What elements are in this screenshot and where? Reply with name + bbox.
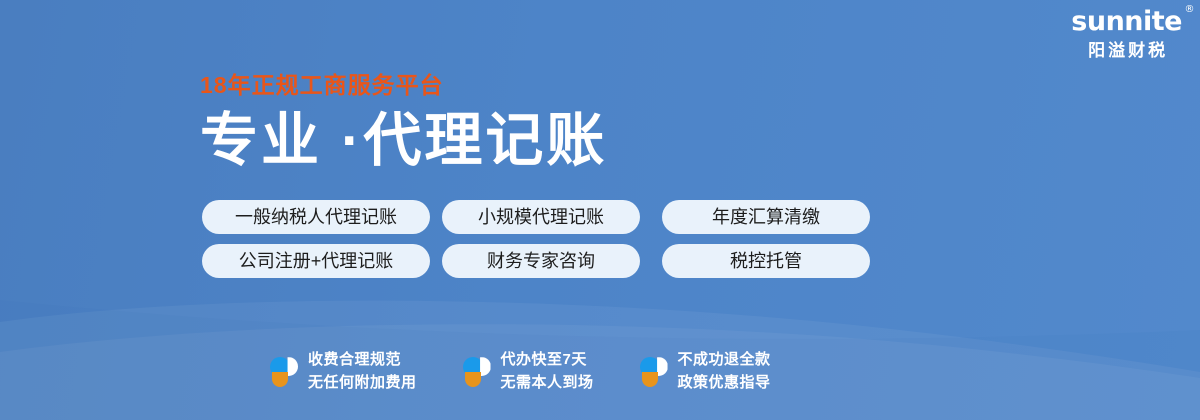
registered-trademark-icon: ® bbox=[1185, 5, 1195, 15]
dual-circle-icon bbox=[270, 354, 298, 388]
brand-logo[interactable]: sunnite ® 阳溢财税 bbox=[1071, 8, 1182, 59]
feature-line-2: 政策优惠指导 bbox=[678, 371, 771, 394]
hero-title: 专业 ·代理记账 bbox=[200, 111, 607, 172]
service-pill-row: 一般纳税人代理记账 小规模代理记账 年度汇算清缴 bbox=[202, 200, 870, 234]
service-pill-annual-settlement[interactable]: 年度汇算清缴 bbox=[662, 200, 870, 234]
service-pill-small-scale[interactable]: 小规模代理记账 bbox=[442, 200, 640, 234]
service-pill-expert-consulting[interactable]: 财务专家咨询 bbox=[442, 244, 640, 278]
feature-line-1: 收费合理规范 bbox=[308, 348, 417, 371]
feature-item-speed: 代办快至7天 无需本人到场 bbox=[463, 348, 594, 395]
feature-item-guarantee: 不成功退全款 政策优惠指导 bbox=[640, 348, 771, 395]
feature-item-pricing: 收费合理规范 无任何附加费用 bbox=[270, 348, 417, 395]
dual-circle-icon-orange-part bbox=[642, 372, 658, 387]
feature-line-2: 无任何附加费用 bbox=[308, 371, 417, 394]
feature-text: 不成功退全款 政策优惠指导 bbox=[678, 348, 771, 395]
service-pill-row: 公司注册+代理记账 财务专家咨询 税控托管 bbox=[202, 244, 870, 278]
feature-text: 代办快至7天 无需本人到场 bbox=[501, 348, 594, 395]
hero-headline-block: 18年正规工商服务平台 专业 ·代理记账 bbox=[200, 74, 607, 172]
service-pill-company-registration[interactable]: 公司注册+代理记账 bbox=[202, 244, 430, 278]
service-pill-grid: 一般纳税人代理记账 小规模代理记账 年度汇算清缴 公司注册+代理记账 财务专家咨… bbox=[202, 200, 870, 288]
brand-wordmark-text: sunnite bbox=[1071, 6, 1182, 37]
hero-eyebrow: 18年正规工商服务平台 bbox=[200, 74, 607, 97]
promo-banner: sunnite ® 阳溢财税 18年正规工商服务平台 专业 ·代理记账 一般纳税… bbox=[0, 0, 1200, 420]
feature-strip: 收费合理规范 无任何附加费用 代办快至7天 无需本人到场 不成功退全款 bbox=[270, 348, 771, 395]
feature-text: 收费合理规范 无任何附加费用 bbox=[308, 348, 417, 395]
dual-circle-icon bbox=[463, 354, 491, 388]
dual-circle-icon bbox=[640, 354, 668, 388]
feature-line-2: 无需本人到场 bbox=[501, 371, 594, 394]
brand-subtitle: 阳溢财税 bbox=[1071, 42, 1182, 59]
feature-line-1: 代办快至7天 bbox=[501, 348, 594, 371]
brand-wordmark: sunnite ® bbox=[1071, 8, 1182, 35]
feature-line-1: 不成功退全款 bbox=[678, 348, 771, 371]
dual-circle-icon-orange-part bbox=[465, 372, 481, 387]
service-pill-general-taxpayer[interactable]: 一般纳税人代理记账 bbox=[202, 200, 430, 234]
dual-circle-icon-orange-part bbox=[272, 372, 288, 387]
service-pill-tax-control-hosting[interactable]: 税控托管 bbox=[662, 244, 870, 278]
